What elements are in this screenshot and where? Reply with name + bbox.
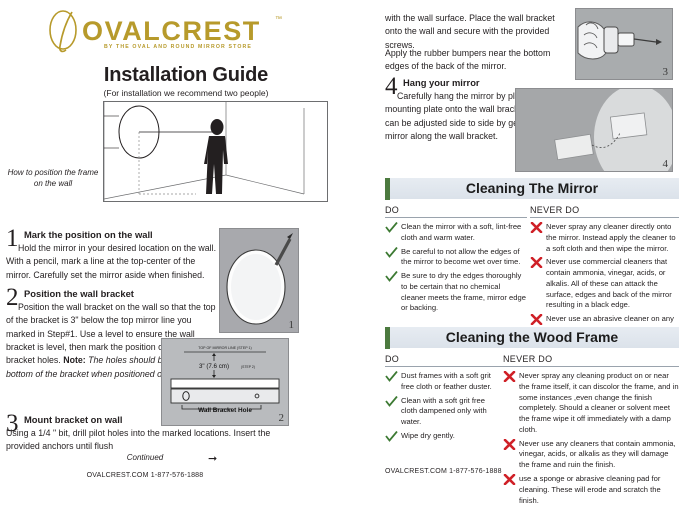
list-item: Clean the mirror with a soft, lint-free …: [385, 222, 527, 244]
list-item: Be sure to dry the edges thoroughly to b…: [385, 271, 527, 314]
arrow-right-icon: ➞: [208, 452, 217, 465]
cleaning-wood-title: Cleaning the Wood Frame: [385, 329, 679, 345]
list-item: Never spray any cleaning product on or n…: [503, 371, 679, 436]
cleaning-wood-columns: DO Dust frames with a soft grit free clo…: [385, 354, 679, 484]
list-item: Never use any cleaners that contain ammo…: [503, 439, 679, 471]
page-title: Installation Guide: [0, 64, 372, 87]
list-item-text: Be sure to dry the edges thoroughly to b…: [401, 271, 526, 312]
cleaning-mirror-never-header: NEVER DO: [530, 205, 679, 218]
list-item: Never spray any cleaner directly onto th…: [530, 222, 679, 254]
cleaning-wood-do-header: DO: [385, 354, 503, 367]
svg-text:TOP OF MIRROR LINE (STEP 1): TOP OF MIRROR LINE (STEP 1): [198, 346, 252, 350]
step-2-heading: Position the wall bracket: [24, 288, 134, 299]
cleaning-wood-section: Cleaning the Wood Frame DO Dust frames w…: [385, 326, 679, 484]
footer-left: OVALCREST.COM 1-877-576-1888: [0, 472, 290, 479]
mirror-mounting-plate-photo: 4: [515, 88, 673, 172]
check-icon: [385, 396, 398, 407]
panel-3-number: 3: [663, 66, 669, 78]
step-3-body: Using a 1/4 " bit, drill pilot holes int…: [6, 427, 296, 454]
check-icon: [385, 247, 398, 258]
cross-icon: [530, 222, 543, 233]
installation-guide-page: OVALCREST ™ BY THE OVAL AND ROUND MIRROR…: [0, 0, 679, 489]
cleaning-wood-do-column: DO Dust frames with a soft grit free clo…: [385, 354, 503, 445]
cross-icon: [503, 474, 516, 485]
list-item-text: Dust frames with a soft grit free cloth …: [401, 371, 492, 391]
cleaning-mirror-title: Cleaning The Mirror: [385, 180, 679, 196]
cleaning-wood-header: Cleaning the Wood Frame: [385, 326, 679, 348]
cleaning-mirror-do-column: DO Clean the mirror with a soft, lint-fr…: [385, 205, 527, 317]
cleaning-mirror-columns: DO Clean the mirror with a soft, lint-fr…: [385, 205, 679, 330]
cleaning-mirror-never-column: NEVER DO Never spray any cleaner directl…: [530, 205, 679, 339]
cleaning-mirror-do-header: DO: [385, 205, 527, 218]
list-item: Wipe dry gently.: [385, 431, 503, 442]
cross-icon: [530, 257, 543, 268]
continuation-paragraph-2: Apply the rubber bumpers near the bottom…: [385, 47, 575, 74]
list-item-text: Wipe dry gently.: [401, 431, 455, 440]
list-item-text: Never use commercial cleaners that conta…: [546, 257, 672, 309]
cleaning-wood-never-column: NEVER DO Never spray any cleaning produc…: [503, 354, 679, 509]
step-2-note-label: Note:: [63, 355, 85, 365]
cleaning-wood-never-header: NEVER DO: [503, 354, 679, 367]
mirror-pencil-photo: 1: [219, 228, 299, 333]
left-column: OVALCREST ™ BY THE OVAL AND ROUND MIRROR…: [0, 0, 372, 489]
brand-logo: OVALCREST ™ BY THE OVAL AND ROUND MIRROR…: [42, 8, 302, 56]
panel-1-number: 1: [289, 319, 295, 331]
drill-hand-photo: 3: [575, 8, 673, 80]
panel-2-number: 2: [279, 412, 285, 424]
continued-label: Continued: [0, 453, 290, 462]
wall-diagram-caption: How to position the frame on the wall: [6, 168, 100, 190]
brand-tagline: BY THE OVAL AND ROUND MIRROR STORE: [104, 44, 252, 50]
list-item-text: use a sponge or abrasive cleaning pad fo…: [519, 474, 661, 505]
step-1-heading: Mark the position on the wall: [24, 229, 153, 240]
cleaning-mirror-section: Cleaning The Mirror DO Clean the mirror …: [385, 177, 679, 330]
list-item-text: Clean with a soft grit free cloth dampen…: [401, 396, 487, 427]
check-icon: [385, 431, 398, 442]
check-icon: [385, 222, 398, 233]
list-item-text: Never spray any cleaner directly onto th…: [546, 222, 676, 253]
wall-position-diagram: [103, 101, 328, 202]
brand-name: OVALCREST: [82, 16, 261, 47]
step-1-body: Hold the mirror in your desired location…: [6, 242, 218, 282]
check-icon: [385, 371, 398, 382]
right-column: with the wall surface. Place the wall br…: [385, 0, 679, 489]
panel-4-number: 4: [663, 158, 669, 170]
step-4-heading: Hang your mirror: [403, 77, 480, 88]
page-subtitle: (For installation we recommend two peopl…: [0, 88, 372, 98]
cross-icon: [530, 314, 543, 325]
list-item-text: Never spray any cleaning product on or n…: [519, 371, 679, 434]
step-3-heading: Mount bracket on wall: [24, 414, 122, 425]
wall-bracket-diagram: TOP OF MIRROR LINE (STEP 1) 3" (7.6 cm) …: [161, 338, 289, 426]
list-item-text: Never use any cleaners that contain ammo…: [519, 439, 676, 470]
list-item: Never use commercial cleaners that conta…: [530, 257, 679, 311]
cleaning-mirror-header: Cleaning The Mirror: [385, 177, 679, 199]
cross-icon: [503, 371, 516, 382]
list-item-text: Be careful to not allow the edges of the…: [401, 247, 520, 267]
list-item: Clean with a soft grit free cloth dampen…: [385, 396, 503, 428]
footer-right: OVALCREST.COM 1-877-576-1888: [385, 468, 502, 475]
svg-text:3" (7.6 cm): 3" (7.6 cm): [199, 363, 229, 370]
svg-text:Wall Bracket Hole: Wall Bracket Hole: [198, 407, 252, 414]
list-item: use a sponge or abrasive cleaning pad fo…: [503, 474, 679, 506]
list-item-text: Clean the mirror with a soft, lint-free …: [401, 222, 521, 242]
list-item: Be careful to not allow the edges of the…: [385, 247, 527, 269]
cross-icon: [503, 439, 516, 450]
list-item: Dust frames with a soft grit free cloth …: [385, 371, 503, 393]
brand-trademark: ™: [275, 16, 282, 23]
svg-text:(STEP 2): (STEP 2): [241, 365, 255, 369]
check-icon: [385, 271, 398, 282]
